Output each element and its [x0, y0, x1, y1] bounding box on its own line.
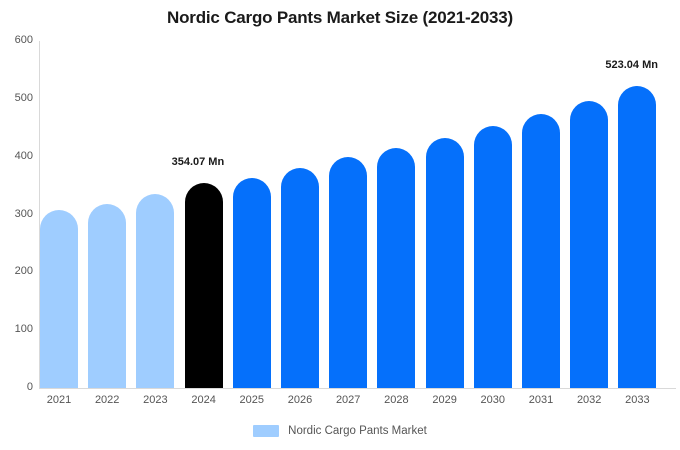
bar-2023[interactable] [136, 41, 174, 388]
bar-2025[interactable] [233, 41, 271, 388]
x-axis-tick-label: 2021 [40, 394, 78, 406]
y-axis-tick-label: 400 [0, 150, 33, 162]
x-axis-tick-label: 2029 [426, 394, 464, 406]
x-axis-tick-label: 2022 [88, 394, 126, 406]
bar-2030[interactable] [474, 41, 512, 388]
x-axis-tick-label: 2030 [474, 394, 512, 406]
bar-2026[interactable] [281, 41, 319, 388]
bar-2029[interactable] [426, 41, 464, 388]
bar-2022[interactable] [88, 41, 126, 388]
bar-series [40, 41, 680, 388]
x-axis-line [39, 388, 676, 389]
bar-rect[interactable] [88, 204, 126, 388]
y-axis-tick-label: 100 [0, 323, 33, 335]
bar-rect[interactable] [474, 126, 512, 388]
y-axis-tick-label: 600 [0, 34, 33, 46]
bar-value-label: 354.07 Mn [172, 156, 225, 168]
bar-2021[interactable] [40, 41, 78, 388]
bar-2031[interactable] [522, 41, 560, 388]
bar-rect[interactable] [618, 86, 656, 388]
bar-2024[interactable] [185, 41, 223, 388]
x-axis-tick-label: 2026 [281, 394, 319, 406]
x-axis-tick-label: 2025 [233, 394, 271, 406]
x-axis-tick-label: 2027 [329, 394, 367, 406]
bar-2028[interactable] [377, 41, 415, 388]
x-axis-tick-label: 2032 [570, 394, 608, 406]
legend-label: Nordic Cargo Pants Market [288, 425, 427, 437]
x-axis-tick-label: 2031 [522, 394, 560, 406]
x-axis-tick-label: 2033 [618, 394, 656, 406]
bar-rect[interactable] [570, 101, 608, 388]
bar-rect[interactable] [426, 138, 464, 388]
bar-rect[interactable] [233, 178, 271, 388]
x-axis-tick-label: 2024 [185, 394, 223, 406]
bar-rect[interactable] [329, 157, 367, 388]
chart-legend: Nordic Cargo Pants Market [0, 425, 680, 437]
y-axis-tick-label: 200 [0, 265, 33, 277]
bar-2027[interactable] [329, 41, 367, 388]
y-axis-tick-label: 300 [0, 208, 33, 220]
bar-2033[interactable] [618, 41, 656, 388]
bar-rect[interactable] [522, 114, 560, 388]
bar-rect[interactable] [281, 168, 319, 388]
bar-value-label: 523.04 Mn [605, 59, 658, 71]
bar-rect[interactable] [40, 210, 78, 388]
bar-rect[interactable] [185, 183, 223, 388]
x-axis-tick-label: 2023 [136, 394, 174, 406]
bar-rect[interactable] [136, 194, 174, 388]
y-axis-tick-label: 500 [0, 92, 33, 104]
bar-chart: Nordic Cargo Pants Market Size (2021-203… [0, 0, 680, 450]
x-axis-tick-label: 2028 [377, 394, 415, 406]
bar-rect[interactable] [377, 148, 415, 388]
plot-area: 6005004003002001000 20212022202320242025… [0, 0, 680, 450]
bar-2032[interactable] [570, 41, 608, 388]
legend-swatch-icon [253, 425, 279, 437]
y-axis-tick-label: 0 [0, 381, 33, 393]
